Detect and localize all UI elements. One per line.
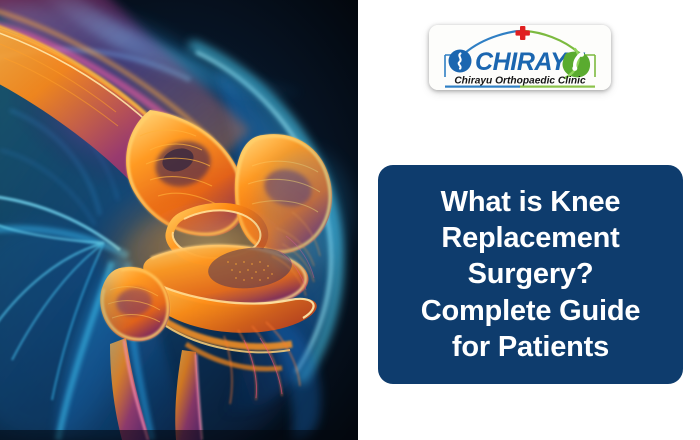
logo-bar-green <box>520 86 595 88</box>
hero-bottom-vignette <box>0 430 358 440</box>
knee-joint-anatomical-illustration <box>0 0 358 440</box>
lateral-soft-glow <box>259 150 351 270</box>
spine-circle-icon <box>449 50 472 73</box>
clinic-logo-card[interactable]: CHIRAYU Chirayu Orthopaedic Clinic <box>429 25 611 90</box>
poster-canvas: CHIRAYU Chirayu Orthopaedic Clinic What … <box>0 0 700 440</box>
knee-joint-artwork <box>0 0 358 440</box>
article-title: What is Knee Replacement Surgery? Comple… <box>407 184 655 365</box>
logo-bar-blue <box>445 86 520 88</box>
logo-tagline: Chirayu Orthopaedic Clinic <box>454 76 586 87</box>
clinic-logo: CHIRAYU Chirayu Orthopaedic Clinic <box>429 25 611 90</box>
article-title-panel: What is Knee Replacement Surgery? Comple… <box>378 165 683 384</box>
